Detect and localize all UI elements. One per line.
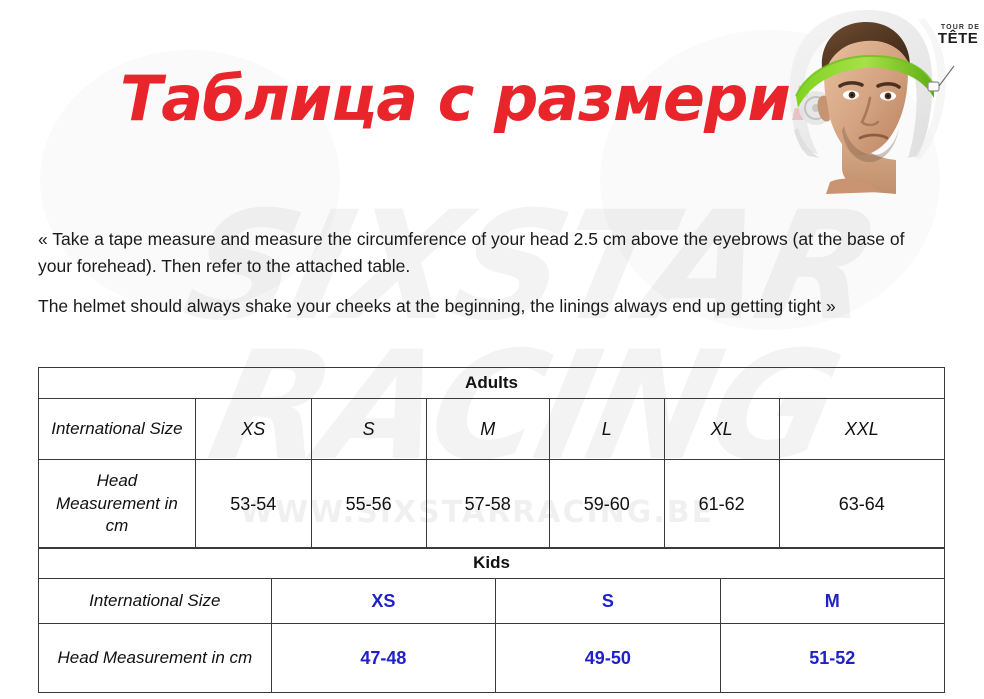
page-title: Таблица с размери: <box>120 68 814 130</box>
adults-row-label-size: International Size <box>39 399 196 460</box>
instruction-paragraph-1: « Take a tape measure and measure the ci… <box>38 226 918 279</box>
table-row: Kids <box>39 548 945 579</box>
adults-size-l: L <box>549 399 664 460</box>
adults-size-xxl: XXL <box>779 399 944 460</box>
kids-measurement-s: 49-50 <box>496 624 720 693</box>
adults-measurement-xxl: 63-64 <box>779 460 944 549</box>
adults-measurement-s: 55-56 <box>311 460 426 549</box>
adults-measurement-xs: 53-54 <box>195 460 311 549</box>
kids-row-label-size: International Size <box>39 579 272 624</box>
table-row: Head Measurement in cm 53-54 55-56 57-58… <box>39 460 945 549</box>
adults-size-table: Adults International Size XS S M L XL XX… <box>38 367 945 549</box>
kids-size-xs: XS <box>271 579 495 624</box>
adults-size-s: S <box>311 399 426 460</box>
tour-de-tete-label: TOUR DE TÊTE <box>938 24 980 47</box>
kids-measurement-m: 51-52 <box>720 624 944 693</box>
instruction-paragraph-2: The helmet should always shake your chee… <box>38 293 878 320</box>
size-chart-page: SIXSTAR RACING WWW.SIXSTARRACING.BE Табл… <box>0 0 984 699</box>
head-measurement-illustration: TOUR DE TÊTE <box>768 0 984 196</box>
tete-text: TÊTE <box>938 31 980 47</box>
kids-size-m: M <box>720 579 944 624</box>
kids-measurement-xs: 47-48 <box>271 624 495 693</box>
adults-size-xs: XS <box>195 399 311 460</box>
adults-size-m: M <box>426 399 549 460</box>
kids-banner-cell: Kids <box>39 548 945 579</box>
adults-row-label-measurement: Head Measurement in cm <box>39 460 196 549</box>
kids-row-label-measurement: Head Measurement in cm <box>39 624 272 693</box>
table-row: International Size XS S M <box>39 579 945 624</box>
adults-banner-cell: Adults <box>39 368 945 399</box>
kids-size-s: S <box>496 579 720 624</box>
adults-size-xl: XL <box>664 399 779 460</box>
adults-measurement-xl: 61-62 <box>664 460 779 549</box>
table-row: Head Measurement in cm 47-48 49-50 51-52 <box>39 624 945 693</box>
kids-size-table: Kids International Size XS S M Head Meas… <box>38 547 945 693</box>
table-row: International Size XS S M L XL XXL <box>39 399 945 460</box>
adults-measurement-m: 57-58 <box>426 460 549 549</box>
table-row: Adults <box>39 368 945 399</box>
adults-measurement-l: 59-60 <box>549 460 664 549</box>
